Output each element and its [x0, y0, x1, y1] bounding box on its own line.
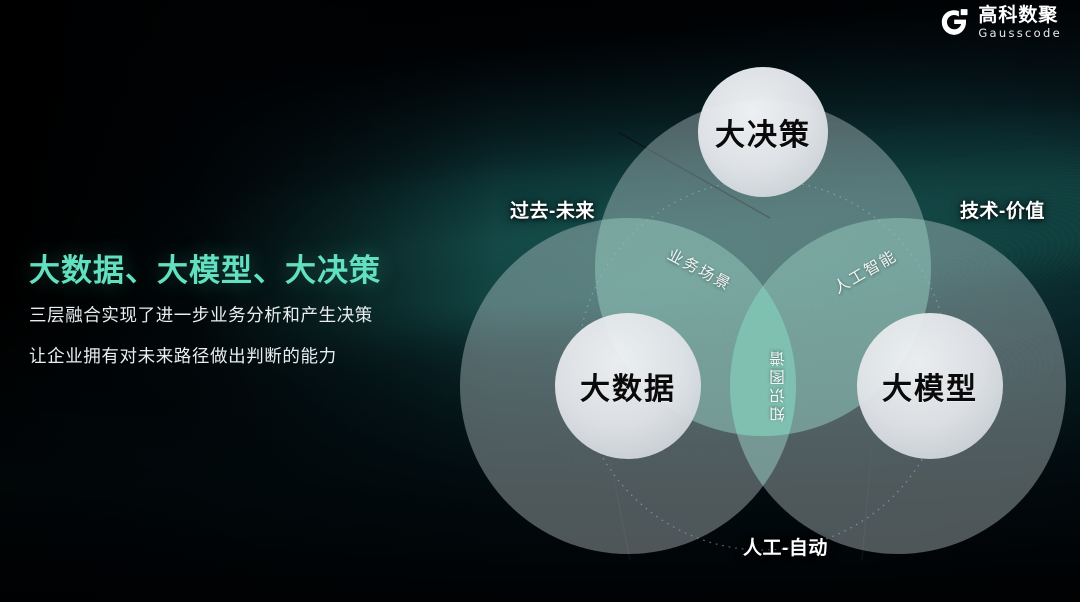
- axis-label-manual-auto: 人工-自动: [743, 533, 828, 560]
- venn-label-bigdata: 大数据: [580, 364, 676, 408]
- subtitle-line-1: 三层融合实现了进一步业务分析和产生决策: [29, 306, 459, 324]
- venn-svg: [470, 0, 1080, 602]
- logo-chinese-name: 高科数聚: [978, 6, 1062, 25]
- subtitle-line-2: 让企业拥有对未来路径做出判断的能力: [29, 347, 459, 365]
- venn-diagram: [470, 0, 1080, 602]
- slide-canvas: 高科数聚 Gausscode 大数据、大模型、大决策 三层融合实现了进一步业务分…: [0, 0, 1080, 602]
- axis-label-tech-value: 技术-价值: [960, 196, 1045, 223]
- venn-label-decision: 大决策: [715, 110, 811, 154]
- venn-label-bigmodel: 大模型: [882, 364, 978, 408]
- logo-english-name: Gausscode: [978, 28, 1062, 40]
- venn-intersection-label-knowledge-graph: 知识图谱: [768, 348, 790, 422]
- axis-label-past-future: 过去-未来: [510, 196, 595, 223]
- headline-block: 大数据、大模型、大决策 三层融合实现了进一步业务分析和产生决策 让企业拥有对未来…: [29, 254, 459, 366]
- brand-logo: 高科数聚 Gausscode: [939, 6, 1062, 40]
- page-title: 大数据、大模型、大决策: [29, 254, 459, 288]
- gausscode-g-mark-icon: [939, 8, 969, 38]
